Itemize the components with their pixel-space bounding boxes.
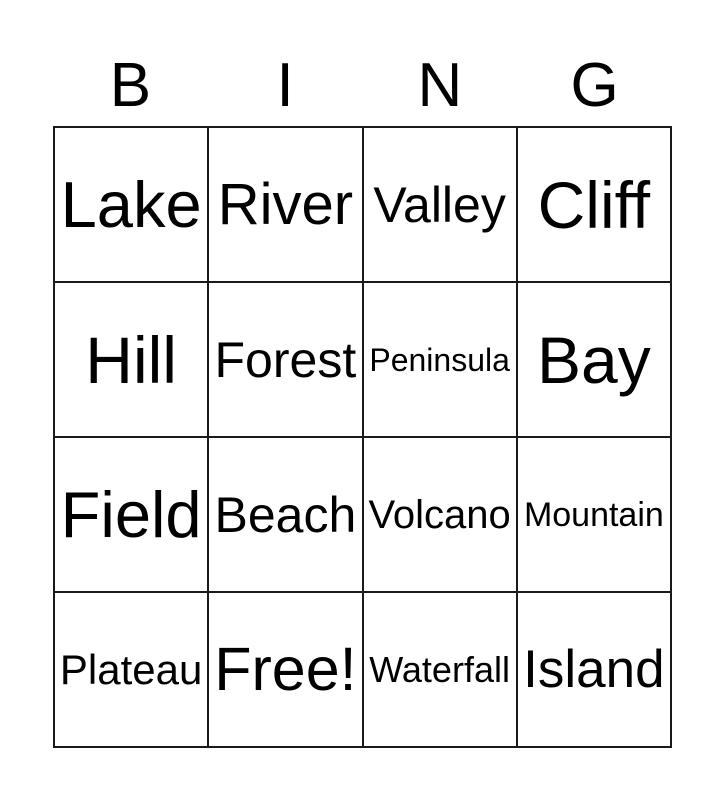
bingo-cell[interactable]: Mountain (518, 438, 672, 593)
bingo-cell[interactable]: Valley (364, 128, 518, 283)
bingo-card: B I N G LakeRiverValleyCliffHillForestPe… (0, 0, 723, 800)
bingo-cell[interactable]: Cliff (518, 128, 672, 283)
bingo-cell-label: Island (521, 643, 666, 696)
bingo-cell-label: Plateau (58, 649, 204, 691)
bingo-header-letter-b-text: B (110, 55, 151, 117)
bingo-grid: LakeRiverValleyCliffHillForestPeninsulaB… (53, 126, 672, 748)
bingo-header-letter-g: G (517, 52, 672, 120)
bingo-cell-label: Hill (83, 327, 179, 393)
bingo-header-letter-n-text: N (417, 55, 462, 117)
bingo-cell[interactable]: Waterfall (364, 593, 518, 748)
bingo-cell-label: Volcano (366, 495, 512, 535)
bingo-cell[interactable]: Bay (518, 283, 672, 438)
bingo-header-letter-n: N (363, 52, 518, 120)
bingo-cell-label: Bay (535, 327, 653, 393)
bingo-cell-label: Mountain (522, 498, 666, 532)
bingo-cell[interactable]: Peninsula (364, 283, 518, 438)
bingo-cell[interactable]: Forest (209, 283, 363, 438)
bingo-cell[interactable]: Lake (55, 128, 209, 283)
bingo-header-letter-b: B (53, 52, 208, 120)
bingo-cell-label: Cliff (536, 172, 652, 238)
bingo-cell-free[interactable]: Free! (209, 593, 363, 748)
bingo-cell-label: Peninsula (367, 344, 512, 376)
bingo-cell[interactable]: Beach (209, 438, 363, 593)
bingo-header-letter-i: I (208, 52, 363, 120)
bingo-cell-label: Waterfall (367, 652, 512, 688)
bingo-cell[interactable]: Island (518, 593, 672, 748)
bingo-cell-label: River (216, 176, 355, 234)
bingo-cell-label: Valley (371, 180, 507, 230)
bingo-cell[interactable]: Field (55, 438, 209, 593)
bingo-cell-label: Forest (213, 335, 359, 385)
bingo-cell[interactable]: River (209, 128, 363, 283)
bingo-cell-label: Lake (59, 172, 204, 237)
bingo-cell[interactable]: Plateau (55, 593, 209, 748)
bingo-cell[interactable]: Hill (55, 283, 209, 438)
bingo-header-letter-i-text: I (277, 55, 294, 117)
bingo-cell-label: Free! (212, 639, 358, 700)
bingo-header-row: B I N G (53, 52, 672, 120)
bingo-cell-label: Beach (212, 490, 358, 540)
bingo-cell[interactable]: Volcano (364, 438, 518, 593)
bingo-header-letter-g-text: G (571, 55, 619, 117)
bingo-cell-label: Field (59, 482, 204, 547)
